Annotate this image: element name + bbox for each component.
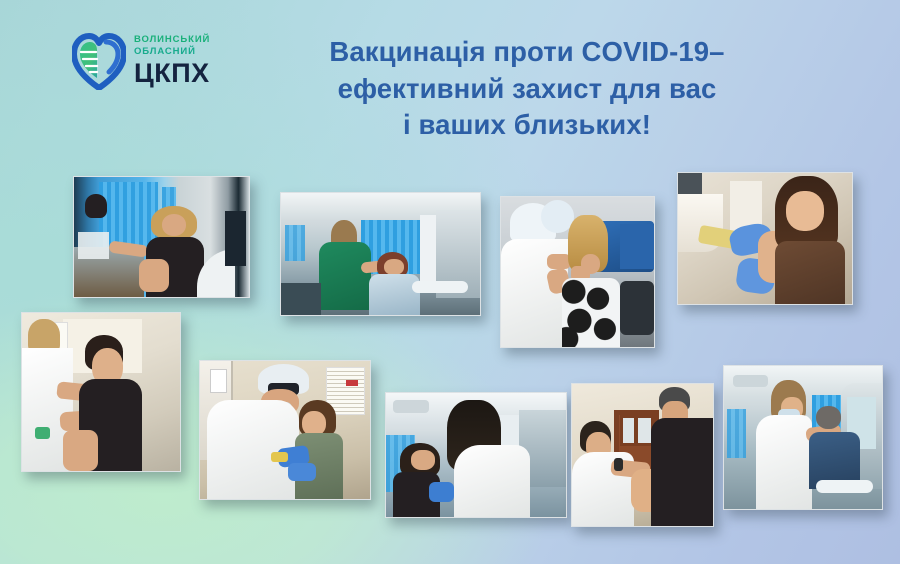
headline-line-2: ефективний захист для вас — [296, 71, 758, 108]
headline-line-1: Вакцинація проти COVID-19– — [296, 34, 758, 71]
photo-doctor-glasses-seated-woman — [199, 360, 371, 500]
photo-nurse-green-scrubs-bus — [280, 192, 481, 316]
headline-line-3: і ваших близьких! — [296, 107, 758, 144]
logo-wordmark: ВОЛИНСЬКИЙ ОБЛАСНИЙ ЦКПХ — [134, 35, 210, 88]
photo-medic-man-black-tee — [571, 383, 714, 527]
photo-closeup-injection-blue-gloves — [677, 172, 853, 305]
logo-line-2: ОБЛАСНИЙ — [134, 47, 210, 57]
photo-medic-bonnet-blonde — [500, 196, 655, 348]
logo-acronym: ЦКПХ — [134, 60, 210, 87]
shield-heart-logo-icon — [72, 32, 126, 90]
photo-nurse-patient-bus-interior — [723, 365, 883, 510]
logo-line-1: ВОЛИНСЬКИЙ — [134, 35, 210, 45]
photo-thumbs-up-woman — [73, 176, 250, 298]
vaccination-poster: ВОЛИНСЬКИЙ ОБЛАСНИЙ ЦКПХ Вакцинація прот… — [0, 0, 900, 564]
photo-nurse-girl-in-bus — [385, 392, 567, 518]
page-title: Вакцинація проти COVID-19– ефективний за… — [296, 34, 758, 144]
photo-nurse-woman-black-top — [21, 312, 181, 472]
organization-logo: ВОЛИНСЬКИЙ ОБЛАСНИЙ ЦКПХ — [72, 32, 210, 90]
